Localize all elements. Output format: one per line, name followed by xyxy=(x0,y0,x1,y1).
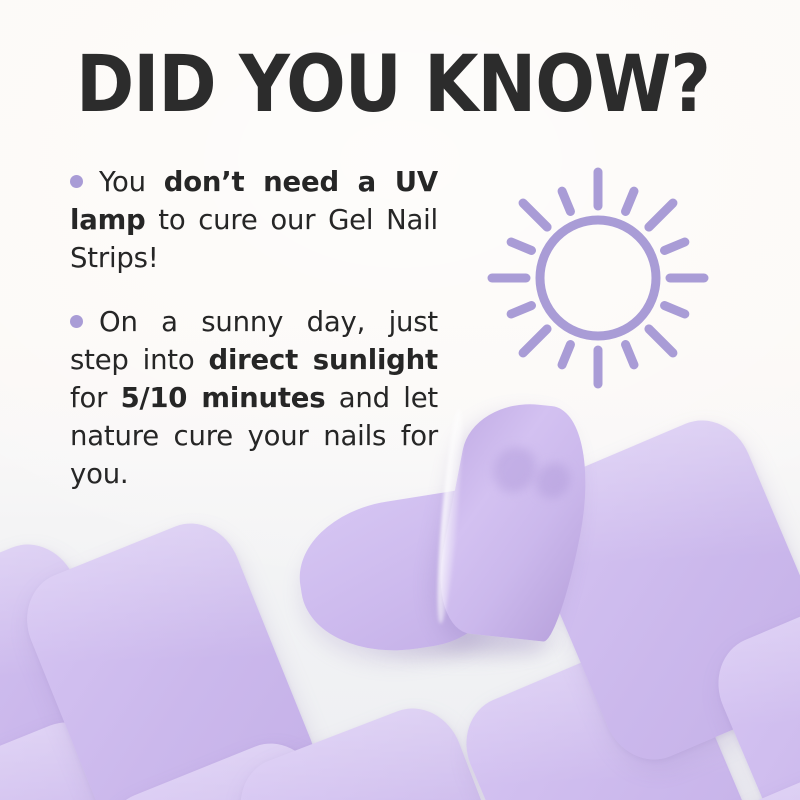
sun-ray xyxy=(626,345,634,365)
sun-ray xyxy=(511,242,531,250)
bullet-text-bold: 5/10 minutes xyxy=(121,382,326,414)
infographic-canvas: DID YOU KNOW? You don’t need a UV lamp t… xyxy=(0,0,800,800)
sun-ray xyxy=(562,345,570,365)
sun-icon xyxy=(487,167,709,389)
bullet-text-bold: direct sunlight xyxy=(208,344,438,376)
sun-ray xyxy=(665,242,685,250)
bullet-list: You don’t need a UV lamp to cure our Gel… xyxy=(70,163,438,493)
sun-ray xyxy=(562,191,570,211)
page-title: DID YOU KNOW? xyxy=(76,46,710,124)
sun-ray xyxy=(649,203,673,227)
sun-ray xyxy=(649,329,673,353)
sun-ray xyxy=(523,203,547,227)
sun-rays-group xyxy=(492,172,704,384)
list-item: On a sunny day, just step into direct su… xyxy=(70,303,438,493)
bullet-dot-icon xyxy=(70,175,83,188)
bullet-text-part: You xyxy=(99,166,164,198)
sun-ray xyxy=(523,329,547,353)
list-item: You don’t need a UV lamp to cure our Gel… xyxy=(70,163,438,277)
sun-ray xyxy=(626,191,634,211)
sun-ray xyxy=(665,306,685,314)
sun-ray xyxy=(511,306,531,314)
bullet-dot-icon xyxy=(70,315,83,328)
bullet-text-part: for xyxy=(70,382,121,414)
sun-circle-outline xyxy=(540,220,656,336)
